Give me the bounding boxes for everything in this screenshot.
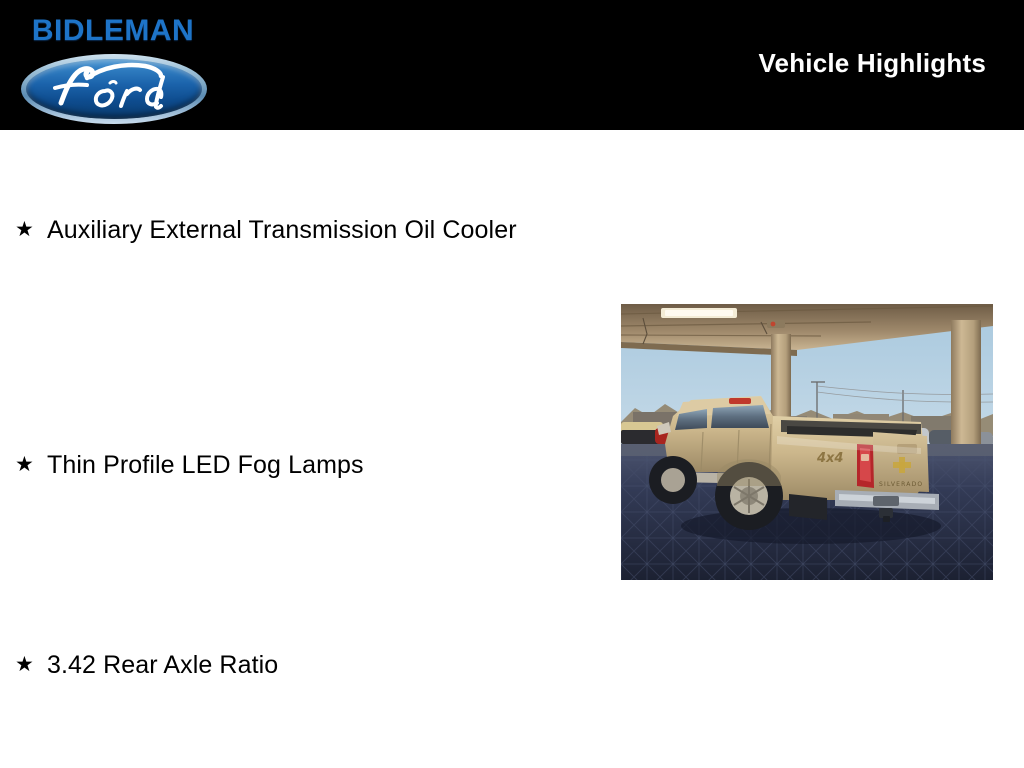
star-bullet-icon: ★ <box>12 648 47 682</box>
main-content: ★ Auxiliary External Transmission Oil Co… <box>0 130 1024 768</box>
vehicle-photo: 4x4 SILVERADO <box>621 304 993 580</box>
vehicle-highlights-list: ★ Auxiliary External Transmission Oil Co… <box>0 130 600 768</box>
svg-text:SILVERADO: SILVERADO <box>879 481 923 488</box>
page-header: BIDLEMAN <box>0 0 1024 130</box>
highlight-label: 3.42 Rear Axle Ratio <box>47 648 572 682</box>
ford-oval-icon <box>21 54 207 124</box>
highlight-label: Thin Profile LED Fog Lamps <box>47 448 572 482</box>
ford-script-icon <box>21 54 207 124</box>
dealer-name-wordmark: BIDLEMAN <box>10 14 216 48</box>
list-item: ★ Thin Profile LED Fog Lamps <box>12 448 572 482</box>
dealer-logo: BIDLEMAN <box>10 14 216 126</box>
page-title: Vehicle Highlights <box>758 48 986 79</box>
svg-text:4x4: 4x4 <box>816 451 843 466</box>
star-bullet-icon: ★ <box>12 448 47 482</box>
list-item: ★ Auxiliary External Transmission Oil Co… <box>12 213 572 247</box>
vehicle-photo-image: 4x4 SILVERADO <box>621 304 993 580</box>
list-item: ★ 3.42 Rear Axle Ratio <box>12 648 572 682</box>
star-bullet-icon: ★ <box>12 213 47 247</box>
highlight-label: Auxiliary External Transmission Oil Cool… <box>47 213 572 247</box>
